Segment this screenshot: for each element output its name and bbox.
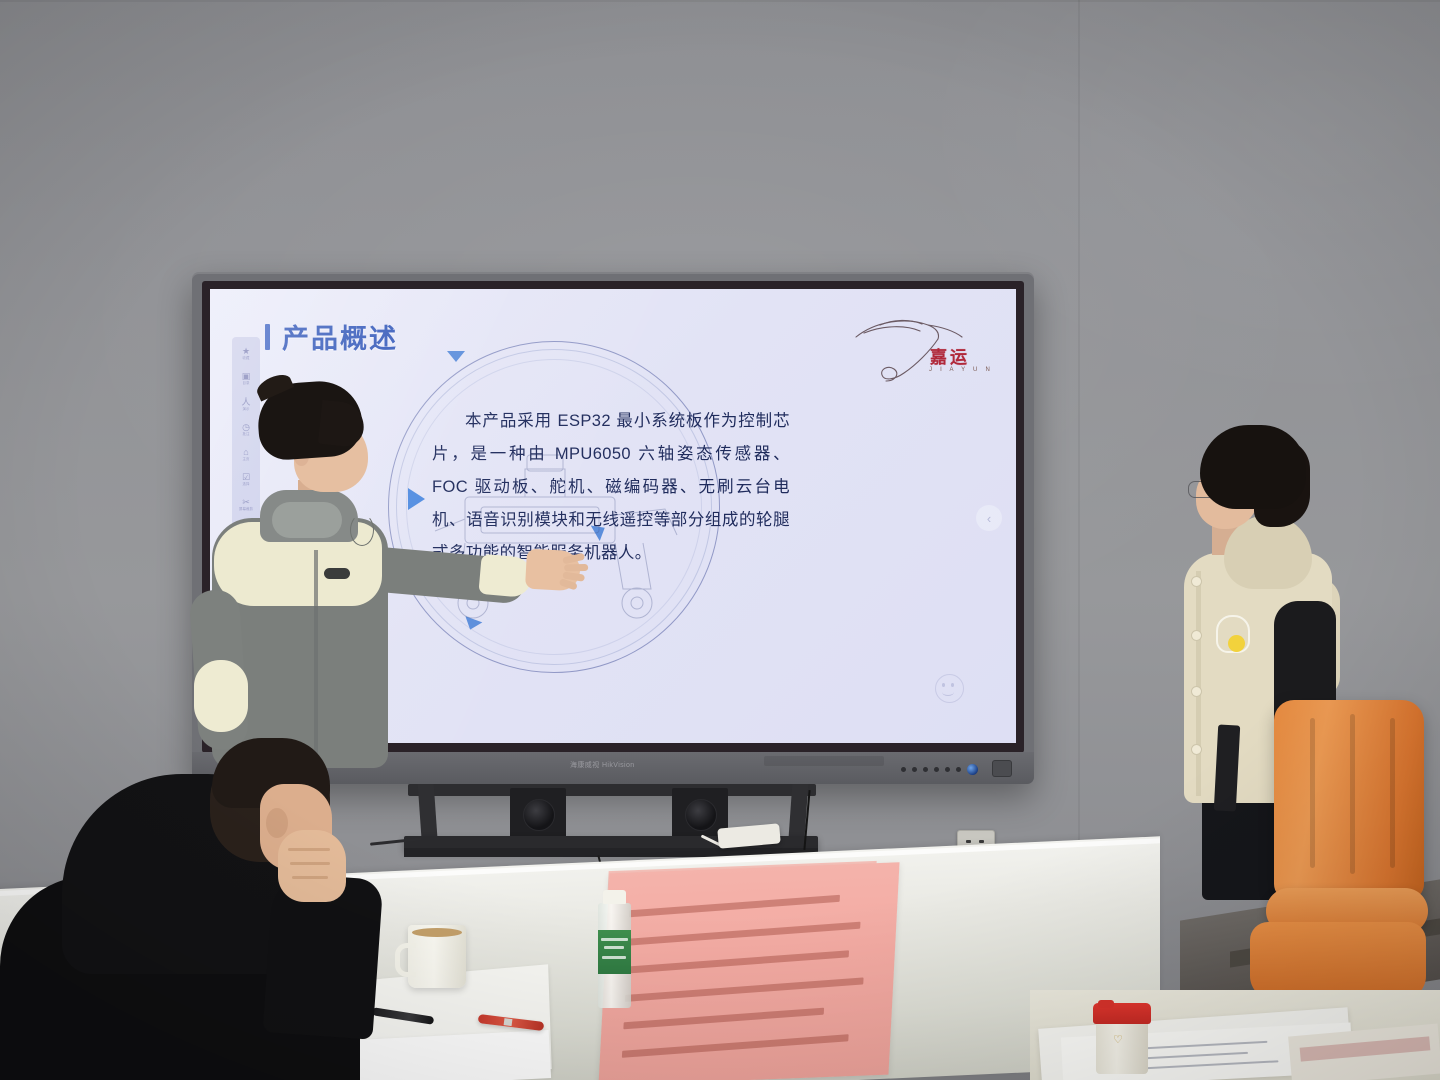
outlet-slot [966,840,971,843]
pink-handout [598,862,899,1080]
logo-chinese-text: 嘉运 [930,343,970,368]
presenter-hand [525,549,581,592]
control-button[interactable] [934,767,939,772]
handout-text-line [629,895,840,917]
bottle-cap [603,890,626,904]
jacket-button [1192,687,1201,696]
mug-handle [395,943,416,977]
display-brand-label: 海康威视 HikVision [570,760,635,770]
handout-text-line [628,922,861,946]
ir-sensor-strip [764,756,884,766]
smiley-mouth [942,688,954,696]
speaker-left [510,788,566,840]
control-button[interactable] [956,767,961,772]
speaker-cone [685,799,717,831]
power-button[interactable] [992,760,1012,777]
arc-arrow-icon [447,351,465,362]
display-stand-crossbar [408,784,816,796]
smiley-watermark-icon [935,674,964,703]
presenter-drawstring [350,514,374,546]
observer-jacket-placket [1196,571,1201,796]
slide-title: 产品概述 [282,317,398,356]
seated-ear [266,808,288,838]
bottle-label [598,930,631,974]
handout-text-line [622,1034,849,1058]
seated-hand [278,830,346,902]
outlet-slot [979,840,984,843]
slide-body-text: 本产品采用 ESP32 最小系统板作为控制芯片，是一种由 MPU6050 六轴姿… [432,405,790,570]
slide-prev-button[interactable]: ‹ [976,505,1002,531]
chair-seam [1350,714,1355,874]
patch-yellow-dot [1228,635,1245,652]
control-button[interactable] [912,767,917,772]
control-button[interactable] [945,767,950,772]
logo-pinyin-text: J I A Y U N [929,367,993,373]
title-accent-bar [265,324,270,350]
chair-backrest [1274,700,1424,900]
presenter-collar-inner [272,502,342,538]
presenter-jacket-badge [324,568,350,579]
handout-text-line [623,1008,824,1030]
presentation-room-photo: ★ 收藏 ▣ 目录 人 演示 ◷ 批注 [0,0,1440,1080]
toolbar-item-label: 收藏 [243,357,250,360]
jacket-button [1192,745,1201,754]
toolbar-item-0[interactable]: ★ 收藏 [233,343,259,365]
presenter-elbow-patch [194,660,248,732]
star-icon: ★ [242,347,250,356]
bottle-label-line [602,956,626,959]
travel-mug-lid-tab [1098,1000,1114,1008]
bottle-label-line [601,938,628,941]
display-control-row[interactable] [901,764,978,775]
slide-title-group: 产品概述 [265,317,398,356]
seated-listener-person [28,726,388,1080]
chair-seam [1310,718,1315,868]
travel-mug-body [1096,1022,1148,1074]
observer-hair [1200,425,1306,509]
observer-jacket-patch [1216,615,1254,657]
mug-tea-surface [412,928,462,937]
camera-lens-icon [967,764,978,775]
travel-mug: ♡ [1093,1003,1151,1073]
water-bottle [598,890,631,1008]
chair-seat [1250,922,1426,1000]
speaker-cone [523,799,555,831]
wall-seam [0,0,1440,2]
jacket-button [1192,577,1201,586]
swallow-logo-icon [850,311,995,391]
handout-text-line [626,950,849,973]
finger [564,564,588,571]
wall-seam-vertical [1078,0,1080,880]
bottle-label-line [604,946,624,949]
handout-text-line [625,977,864,1001]
knuckle-line [290,862,330,865]
knuckle-line [292,876,328,879]
control-button[interactable] [923,767,928,772]
control-button[interactable] [901,767,906,772]
chair-seam [1390,718,1395,868]
knuckle-line [288,848,330,851]
ceramic-mug [408,925,466,988]
travel-mug-logo-icon: ♡ [1113,1033,1123,1046]
company-logo: 嘉运 J I A Y U N [850,311,995,391]
jacket-button [1192,631,1201,640]
